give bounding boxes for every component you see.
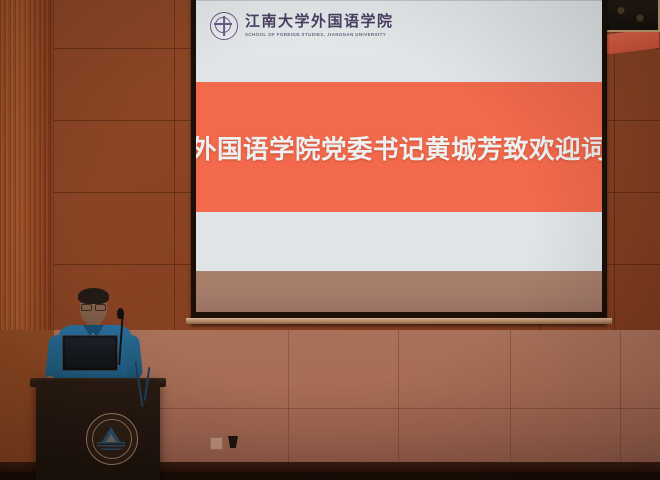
slide-footer-area	[196, 212, 602, 271]
lower-panel-seam	[620, 330, 621, 465]
slide-school-name-cn: 江南大学外国语学院	[245, 14, 394, 29]
header-divider	[196, 0, 602, 1]
laptop-screen	[65, 338, 115, 368]
slide-school-name-en: SCHOOL OF FOREIGN STUDIES, JIANGNAN UNIV…	[245, 33, 394, 38]
glasses-icon	[81, 304, 106, 309]
projection-screen: 江南大学外国语学院 SCHOOL OF FOREIGN STUDIES, JIA…	[196, 0, 602, 312]
lower-panel-seam	[510, 330, 511, 465]
speaker-right-arm	[123, 334, 144, 379]
slide-main-title: 外国语学院党委书记黄城芳致欢迎词	[196, 129, 602, 166]
branding-text: 江南大学外国语学院 SCHOOL OF FOREIGN STUDIES, JIA…	[245, 14, 394, 37]
laptop	[62, 335, 118, 371]
slide-branding: 江南大学外国语学院 SCHOOL OF FOREIGN STUDIES, JIA…	[210, 12, 394, 40]
jiangnan-university-emblem-icon	[210, 12, 238, 40]
emblem-inner-ring-icon	[215, 17, 231, 33]
wall-outlet	[210, 437, 223, 450]
microphone-icon	[117, 308, 124, 319]
screen-bottom-rail	[186, 318, 612, 324]
slide-header-area: 江南大学外国语学院 SCHOOL OF FOREIGN STUDIES, JIA…	[196, 0, 602, 82]
speaker-hair	[78, 288, 109, 304]
lower-panel-seam	[288, 330, 289, 465]
speaker-and-podium	[20, 275, 180, 480]
presentation-photo-scene: 江南大学外国语学院 SCHOOL OF FOREIGN STUDIES, JIA…	[0, 0, 660, 480]
jiangnan-university-podium-emblem-icon	[86, 413, 138, 465]
slide-title-band: 外国语学院党委书记黄城芳致欢迎词	[196, 82, 602, 212]
lower-panel-seam	[398, 330, 399, 465]
podium-emblem-waves	[97, 442, 125, 450]
screen-unlit-area	[196, 271, 602, 312]
projection-screen-frame: 江南大学外国语学院 SCHOOL OF FOREIGN STUDIES, JIA…	[191, 0, 607, 324]
